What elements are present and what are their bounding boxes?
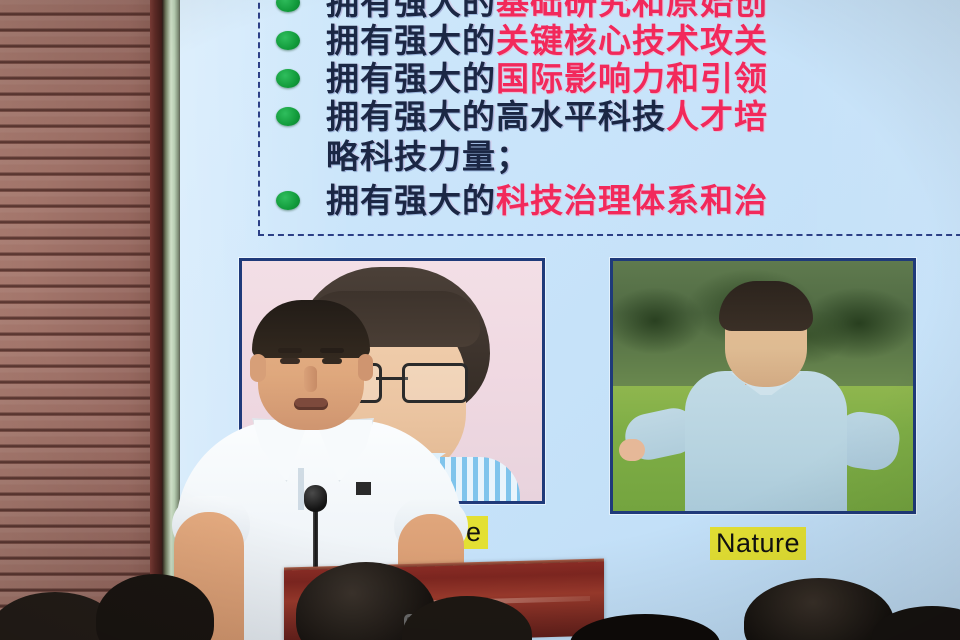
presentation-scene: 拥有强大的 基础研究和原始创 拥有强大的 关键核心技术攻关 拥有强大的 国际影响…: [0, 0, 960, 640]
speaker-nose: [304, 366, 317, 392]
slide-line-dark: 拥有强大的: [326, 62, 496, 95]
slide-line-accent: 人才培: [666, 100, 768, 133]
speaker-ear-left: [250, 354, 266, 382]
slide-line: 拥有强大的高水平科技 人才培: [258, 100, 768, 133]
bullet-dot-icon: [276, 107, 300, 126]
speaker-shirt-logo: [356, 482, 371, 495]
speaker-eye-right: [322, 358, 342, 364]
slide-line-dark: 拥有强大的: [326, 184, 496, 217]
slide-line-accent: 基础研究和原始创: [496, 0, 768, 19]
slide-photo-right: [610, 258, 916, 514]
bullet-spacer: [276, 147, 300, 166]
speaker-mouth: [294, 398, 328, 410]
photo-right-hair: [719, 281, 813, 331]
photo-right-caption: Nature: [710, 527, 806, 560]
speaker-hair: [252, 300, 370, 358]
slide-line-dark: 拥有强大的: [326, 24, 496, 57]
slide-line-continuation: 略科技力量；: [258, 140, 530, 173]
slide-line: 拥有强大的 科技治理体系和治: [258, 184, 768, 217]
slide-line-accent: 关键核心技术攻关: [496, 24, 768, 57]
slide-line-accent: 国际影响力和引领: [496, 62, 768, 95]
speaker-brow-left: [278, 348, 302, 353]
bullet-dot-icon: [276, 191, 300, 210]
speaker-brow-right: [320, 348, 344, 353]
wall-edge-trim: [150, 0, 162, 640]
slide-line-dark: 拥有强大的: [326, 0, 496, 19]
slide-line: 拥有强大的 基础研究和原始创: [258, 0, 768, 19]
microphone-icon: [304, 485, 327, 512]
speaker-ear-right: [358, 354, 373, 381]
slide-line-dark: 略科技力量；: [326, 140, 530, 173]
slide-line-accent: 科技治理体系和治: [496, 184, 768, 217]
slide-line-dark: 拥有强大的高水平科技: [326, 100, 666, 133]
speaker-placket: [298, 468, 304, 510]
bullet-dot-icon: [276, 0, 300, 12]
bullet-dot-icon: [276, 31, 300, 50]
speaker-eye-left: [280, 358, 300, 364]
slide-line: 拥有强大的 国际影响力和引领: [258, 62, 768, 95]
bullet-dot-icon: [276, 69, 300, 88]
slide-line: 拥有强大的 关键核心技术攻关: [258, 24, 768, 57]
photo-right-hand: [619, 439, 645, 461]
